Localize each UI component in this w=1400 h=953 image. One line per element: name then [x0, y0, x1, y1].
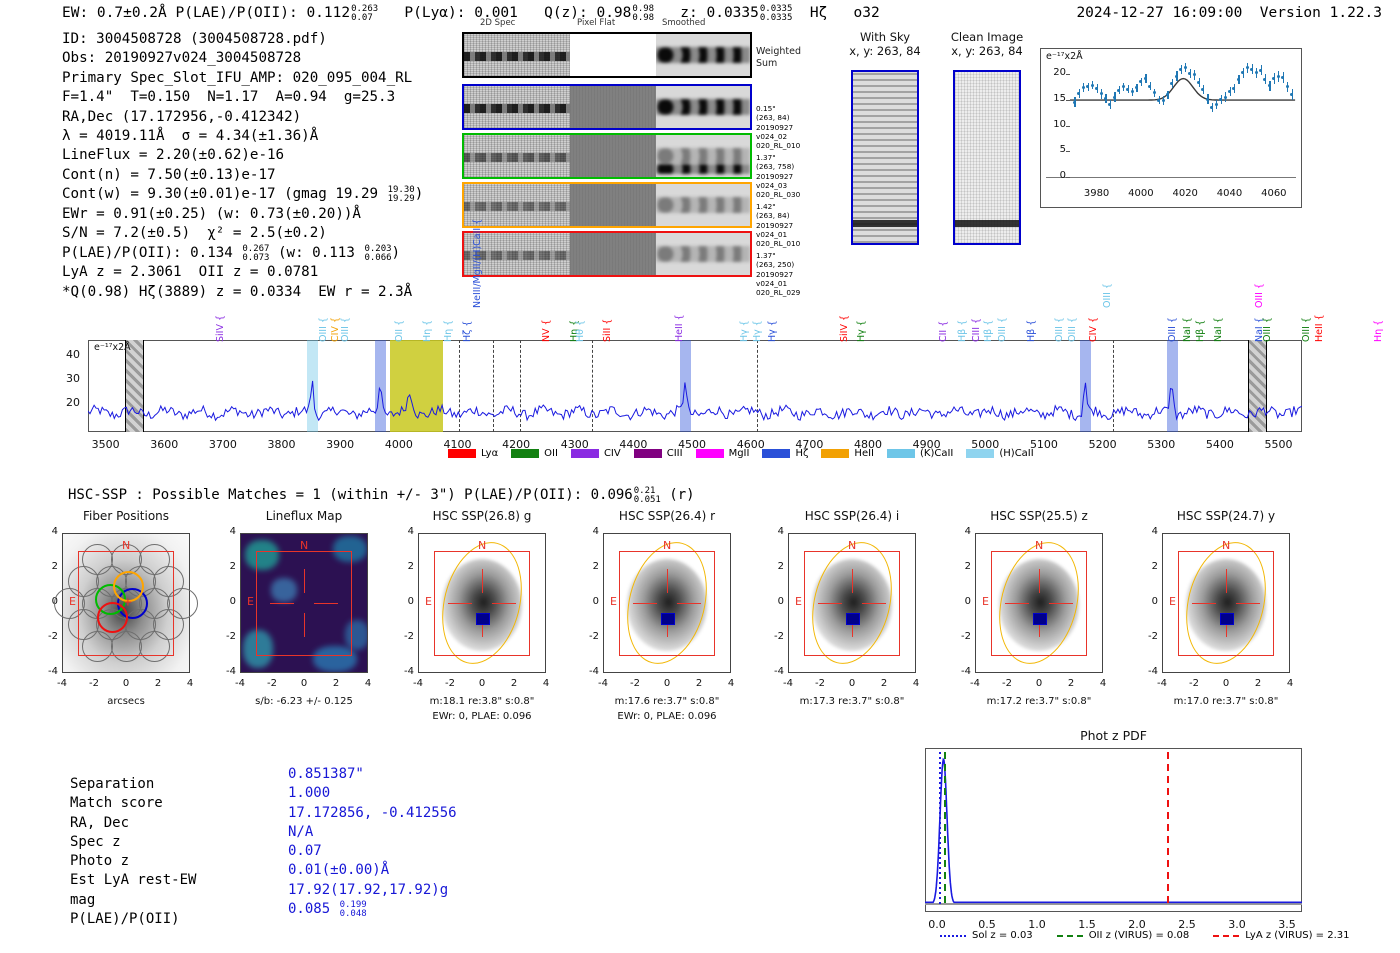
legend-item: CIII	[634, 448, 683, 459]
crosshair-right	[862, 603, 886, 604]
match-table-key: Photo z	[70, 852, 129, 871]
with-sky-cutout	[851, 70, 919, 245]
spectral-line-label: Hθ {	[575, 272, 586, 342]
seg-smoothed	[656, 135, 750, 177]
zoom-spectrum-point	[1224, 96, 1227, 99]
zoom-spectrum-ytick: 15	[1046, 93, 1066, 104]
zoom-spectrum-ytick: 5	[1046, 144, 1066, 155]
version-label: Version 1.22.3	[1260, 5, 1382, 21]
spectral-line-label: Hη {	[443, 272, 454, 342]
spectral-line-label: OIII {	[1254, 270, 1265, 308]
zoom-spectrum-point	[1157, 99, 1160, 102]
full-spectrum-ytick: 20	[52, 396, 80, 409]
info-plae-errors: 0.2670.073	[242, 245, 269, 263]
zoom-spectrum-point	[1184, 66, 1187, 69]
header-extra: o32	[854, 5, 880, 21]
hsc-panel-stats: s/b: -6.23 +/- 0.125	[210, 695, 398, 708]
hsc-panel-stats: m:17.2 re:3.7" s:0.8"	[945, 695, 1133, 708]
crosshair-left	[448, 603, 472, 604]
spectral-line-label: CIV {	[330, 272, 341, 342]
hsc-panel-xtick: 4	[1276, 678, 1304, 689]
compass-east-label: E	[247, 595, 254, 608]
legend-label: OII	[544, 448, 558, 459]
full-spectrum-unit-label: e⁻¹⁷x2Å	[94, 342, 131, 353]
full-spectrum-xtick: 3600	[138, 438, 190, 451]
zoom-spectrum-xtick: 3980	[1077, 188, 1117, 199]
hsc-panel-xtick: 0	[290, 678, 318, 689]
spectral-line-label: NaI {	[1213, 272, 1224, 342]
full-spectrum-xtick: 5300	[1135, 438, 1187, 451]
compass-east-label: E	[610, 595, 617, 608]
hsc-panel-xtick: 4	[354, 678, 382, 689]
info-cont-w: Cont(w) = 9.30(±0.01)e-17 (gmag 19.29 19…	[62, 185, 423, 205]
full-spectrum-trace	[88, 340, 1302, 432]
spectral-line-label: Hη {	[422, 272, 433, 342]
hsc-panel-xtick: -2	[621, 678, 649, 689]
spectral-line-label: OIII {	[340, 272, 351, 342]
hsc-panel-xtick: 2	[1244, 678, 1272, 689]
match-table-value: 0.01(±0.00)Å	[288, 861, 389, 880]
match-table-key: Est LyA rest-EW	[70, 871, 196, 890]
hsc-panel-title: Lineflux Map	[218, 509, 390, 523]
legend-swatch	[966, 449, 994, 458]
full-spectrum-xtick: 3500	[80, 438, 132, 451]
header-plae-value: 0.112	[306, 5, 350, 21]
info-obs: Obs: 20190927v024_3004508728	[62, 49, 423, 68]
hsc-panel-stats: m:17.3 re:3.7" s:0.8"	[758, 695, 946, 708]
zoom-spectrum-point	[1104, 97, 1107, 100]
crosshair-right	[677, 603, 701, 604]
match-table-key: P(LAE)/P(OII)	[70, 910, 180, 929]
match-table-value: 0.085 0.1990.048	[288, 900, 367, 919]
hsc-panel-xtick: 0	[838, 678, 866, 689]
hsc-panel-xtick: 2	[500, 678, 528, 689]
legend-label: CIII	[667, 448, 683, 459]
crosshair-left	[1005, 603, 1029, 604]
spec2d-row: 0.411.17327 0.15"(263, 84)20190927v024_0…	[462, 84, 812, 130]
match-table-key: Spec z	[70, 833, 121, 852]
spec2d-row: 0.171.24307 1.37"(263, 758)20190927v024_…	[462, 133, 812, 179]
legend-swatch	[511, 449, 539, 458]
info-ewr: EWr = 0.91(±0.25) (w: 0.73(±0.20))Å	[62, 205, 423, 224]
hsc-panel-ytick: 2	[1138, 561, 1158, 572]
info-wavelength-sigma: λ = 4019.11Å σ = 4.34(±1.36)Å	[62, 127, 423, 146]
zoom-spectrum-point	[1162, 99, 1165, 102]
legend-item: OII	[511, 448, 558, 459]
hsc-panel-ytick: 2	[579, 561, 599, 572]
compass-north-label: N	[300, 539, 308, 552]
zoom-spectrum-point	[1175, 75, 1178, 78]
hsc-panel-ytick: 2	[38, 561, 58, 572]
crosshair-top	[304, 569, 305, 593]
hsc-panel-xtick: -4	[1148, 678, 1176, 689]
legend-swatch	[887, 449, 915, 458]
hsc-panel-xtick: -4	[226, 678, 254, 689]
phot-z-legend-swatch	[1057, 935, 1083, 937]
full-spectrum-line-labels: SiIV {OIII {CIV {OIII {OII {Hη {Hη {Hζ {…	[88, 268, 1302, 342]
zoom-spectrum-point	[1073, 101, 1076, 104]
match-table-key: mag	[70, 891, 95, 910]
hsc-panel-xtick: 2	[144, 678, 172, 689]
legend-label: Hζ	[795, 448, 808, 459]
hsc-panel-ytick: -4	[216, 666, 236, 677]
hsc-panel-stats: m:17.0 re:3.7" s:0.8"	[1132, 695, 1320, 708]
col-title-2dspec: 2D Spec	[480, 18, 515, 28]
header-timestamp-version: 2024-12-27 16:09:00 Version 1.22.3	[1076, 5, 1382, 21]
spectral-line-label: CIV {	[1088, 272, 1099, 342]
hsc-panel-xtick: 4	[902, 678, 930, 689]
hsc-panel-ytick: -2	[951, 631, 971, 642]
compass-north-label: N	[663, 539, 671, 552]
spectral-line-label: OIII {	[997, 272, 1008, 342]
info-id: ID: 3004508728 (3004508728.pdf)	[62, 30, 423, 49]
full-spectrum-legend: LyαOIICIVCIIIMgIIHζHeII(K)CaII(H)CaII	[448, 448, 1034, 459]
match-table-plae-errors: 0.1990.048	[340, 901, 367, 919]
hsc-panel-xtick: 2	[322, 678, 350, 689]
hsc-banner-plae: 0.096	[591, 487, 633, 503]
info-plae-oii: P(LAE)/P(OII): 0.134 0.2670.073 (w: 0.11…	[62, 244, 423, 264]
hsc-panel-xtick: -2	[258, 678, 286, 689]
spectral-line-label: OIII {	[1054, 272, 1065, 342]
hsc-panel-xtick: 0	[1212, 678, 1240, 689]
crosshair-top	[1226, 569, 1227, 593]
col-title-smoothed: Smoothed	[662, 18, 705, 28]
zoom-spectrum-point	[1215, 103, 1218, 106]
legend-item: CIV	[571, 448, 621, 459]
hsc-banner-text: HSC-SSP : Possible Matches = 1 (within +…	[68, 487, 591, 503]
crosshair-left	[633, 603, 657, 604]
hsc-panel-ytick: 2	[764, 561, 784, 572]
match-table-value: 17.92(17.92,17.92)g	[288, 881, 448, 900]
zoom-spectrum-point	[1091, 84, 1094, 87]
header-summary-line: EW: 0.7±0.2Å P(LAE)/P(OII): 0.1120.2630.…	[62, 4, 880, 22]
spec2d-montage: 2D Spec Pixel Flat Smoothed WeightedSum …	[462, 32, 812, 280]
match-table-key: Separation	[70, 775, 154, 794]
hsc-panel-ytick: -2	[1138, 631, 1158, 642]
phot-z-legend-label: Sol z = 0.03	[972, 930, 1033, 941]
info-cont-n: Cont(n) = 7.50(±0.13)e-17	[62, 166, 423, 185]
hsc-panel-ytick: 0	[1138, 596, 1158, 607]
spectral-line-label: Hβ {	[957, 272, 968, 342]
spectral-line-label: NV {	[541, 272, 552, 342]
hsc-panel-xtick: 4	[532, 678, 560, 689]
compass-north-label: N	[478, 539, 486, 552]
hsc-panel-title: HSC SSP(25.5) z	[953, 509, 1125, 523]
spectral-line-label: HeII {	[1314, 272, 1325, 342]
zoom-spectrum-ytick-mark	[1066, 126, 1070, 127]
header-line-id: Hζ	[810, 5, 827, 21]
spectral-line-label: Hβ {	[983, 272, 994, 342]
phot-z-pdf-chart: Phot z PDF 0.00.51.01.52.02.53.03.5	[925, 748, 1302, 912]
spectral-line-label: HeII {	[674, 272, 685, 342]
spectral-line-label: OIII {	[318, 272, 329, 342]
phot-z-legend-swatch	[1213, 935, 1239, 937]
crosshair-left	[818, 603, 842, 604]
hsc-panel-ytick: 4	[216, 526, 236, 537]
hsc-banner-suffix: (r)	[661, 487, 695, 503]
hsc-panel-xtick: -4	[589, 678, 617, 689]
info-lineflux: LineFlux = 2.20(±0.62)e-16	[62, 146, 423, 165]
hsc-panel-ytick: 0	[951, 596, 971, 607]
spectral-line-label: OIII {	[1067, 272, 1078, 342]
hsc-panel-xtick: 2	[1057, 678, 1085, 689]
detection-info-block: ID: 3004508728 (3004508728.pdf) Obs: 201…	[62, 30, 423, 302]
spectral-line-label: SiIV {	[215, 272, 226, 342]
crosshair-right	[492, 603, 516, 604]
hsc-panel-ytick: 2	[951, 561, 971, 572]
match-table-key: Match score	[70, 794, 163, 813]
legend-swatch	[448, 449, 476, 458]
spectral-line-label: Hγ {	[856, 272, 867, 342]
hsc-panel-ytick: -4	[579, 666, 599, 677]
phot-z-legend-item: LyA z (VIRUS) = 2.31	[1213, 930, 1349, 941]
spectral-line-label: Hγ {	[767, 272, 778, 342]
hsc-panel-ytick: -4	[1138, 666, 1158, 677]
hsc-panel-xtick: -2	[806, 678, 834, 689]
full-spectrum-ytick: 40	[52, 348, 80, 361]
spectral-line-label: Hβ {	[1026, 272, 1037, 342]
zoom-spectrum-fit-curve	[1040, 48, 1302, 208]
match-table-value: 17.172856, -0.412556	[288, 804, 457, 823]
legend-swatch	[821, 449, 849, 458]
timestamp: 2024-12-27 16:09:00	[1076, 5, 1242, 21]
hsc-panel-title: HSC SSP(24.7) y	[1140, 509, 1312, 523]
legend-swatch	[762, 449, 790, 458]
hsc-panel-ytick: 4	[579, 526, 599, 537]
virus-detection-marker	[1033, 613, 1047, 625]
info-sn-chi2: S/N = 7.2(±0.5) χ² = 2.5(±0.2)	[62, 224, 423, 243]
phot-z-legend-swatch	[940, 935, 966, 937]
full-spectrum-ytick: 30	[52, 372, 80, 385]
spectral-line-label: OIII {	[1301, 272, 1312, 342]
hsc-panel-xtick: -4	[774, 678, 802, 689]
info-seeing: F=1.4" T=0.150 N=1.17 A=0.94 g=25.3	[62, 88, 423, 107]
spectral-line-label: SiIV {	[839, 272, 850, 342]
hsc-panel-xtick: -2	[80, 678, 108, 689]
seg-smoothed	[656, 184, 750, 226]
zoom-spectrum-point	[1126, 88, 1129, 91]
spectral-line-label: Hβ {	[1195, 272, 1206, 342]
seg-2dspec	[464, 86, 570, 128]
hsc-panel-ytick: -4	[394, 666, 414, 677]
zoom-spectrum-ytick: 10	[1046, 119, 1066, 130]
info-primary-spec: Primary Spec_Slot_IFU_AMP: 020_095_004_R…	[62, 69, 423, 88]
full-spectrum-xtick: 5500	[1253, 438, 1305, 451]
hsc-panel-xtick: 4	[717, 678, 745, 689]
crosshair-right	[314, 603, 338, 604]
match-table-value: 0.07	[288, 842, 322, 861]
seg-pixelflat	[570, 184, 656, 226]
zoom-spectrum-xtick: 4040	[1210, 188, 1250, 199]
legend-swatch	[634, 449, 662, 458]
legend-label: Lyα	[481, 448, 498, 459]
hsc-panel-title: HSC SSP(26.4) i	[766, 509, 938, 523]
seg-2dspec	[464, 135, 570, 177]
seg-pixelflat	[570, 34, 656, 76]
clean-image-cutout	[953, 70, 1021, 245]
zoom-spectrum-point	[1286, 85, 1289, 88]
spectral-line-label: OIII {	[1102, 270, 1113, 308]
compass-east-label: E	[425, 595, 432, 608]
compass-north-label: N	[1222, 539, 1230, 552]
legend-swatch	[696, 449, 724, 458]
compass-north-label: N	[1035, 539, 1043, 552]
full-spectrum-xtick: 3700	[197, 438, 249, 451]
legend-label: HeII	[854, 448, 874, 459]
hsc-panel-stats: arcsecs	[32, 695, 220, 708]
hsc-panel-xtick: 0	[653, 678, 681, 689]
crosshair-top	[852, 569, 853, 593]
legend-item: Lyα	[448, 448, 498, 459]
match-table-value: N/A	[288, 823, 313, 842]
zoom-spectrum-ytick-mark	[1066, 100, 1070, 101]
full-spectrum-xtick: 5200	[1077, 438, 1129, 451]
zoom-spectrum-point	[1259, 69, 1262, 72]
hsc-panel-xtick: 0	[112, 678, 140, 689]
zoom-spectrum-ytick-mark	[1066, 177, 1070, 178]
legend-swatch	[571, 449, 599, 458]
target-marker: +	[124, 595, 132, 610]
full-spectrum-xtick: 3800	[256, 438, 308, 451]
hsc-panel-xtick: -4	[961, 678, 989, 689]
hsc-panel-ytick: 4	[951, 526, 971, 537]
compass-north-label: N	[122, 539, 130, 552]
spectral-line-label: OIII {	[1167, 272, 1178, 342]
header-z-errors: 0.03350.0335	[760, 5, 793, 23]
full-spectrum-chart: e⁻¹⁷x2Å	[88, 340, 1302, 432]
legend-item: Hζ	[762, 448, 808, 459]
hsc-panel-ewr-plae: EWr: 0, PLAE: 0.096	[388, 710, 576, 723]
compass-east-label: E	[69, 595, 76, 608]
hsc-panel-xtick: -4	[404, 678, 432, 689]
virus-detection-marker	[476, 613, 490, 625]
zoom-spectrum-point	[1122, 85, 1125, 88]
legend-label: (H)CaII	[999, 448, 1033, 459]
header-ew-plae-prefix: EW: 0.7±0.2Å P(LAE)/P(OII):	[62, 5, 306, 21]
legend-item: HeII	[821, 448, 874, 459]
hsc-panel-xtick: 0	[1025, 678, 1053, 689]
hsc-panel-ewr-plae: EWr: 0, PLAE: 0.096	[573, 710, 761, 723]
spectral-line-label: Hγ {	[752, 272, 763, 342]
spectral-line-label: SiII {	[602, 272, 613, 342]
seg-pixelflat	[570, 135, 656, 177]
hsc-panel-title: Fiber Positions	[40, 509, 212, 523]
virus-detection-marker	[661, 613, 675, 625]
zoom-spectrum-point	[1113, 96, 1116, 99]
hsc-panel-title: HSC SSP(26.8) g	[396, 509, 568, 523]
zoom-spectrum-ytick-mark	[1066, 151, 1070, 152]
seg-smoothed	[656, 34, 750, 76]
zoom-spectrum-point	[1237, 78, 1240, 81]
zoom-spectrum-ytick-mark	[1066, 74, 1070, 75]
zoom-spectrum-point	[1290, 93, 1293, 96]
clean-image-title: Clean Imagex, y: 263, 84	[922, 30, 1052, 58]
seg-2dspec	[464, 34, 570, 76]
info-radec: RA,Dec (17.172956,-0.412342)	[62, 108, 423, 127]
legend-label: MgII	[729, 448, 750, 459]
hsc-panel-ytick: -2	[216, 631, 236, 642]
seg-smoothed	[656, 86, 750, 128]
phot-z-legend-label: LyA z (VIRUS) = 2.31	[1245, 930, 1349, 941]
spec2d-row-weighted-sum: WeightedSum	[462, 32, 812, 78]
hsc-panel-ytick: 4	[394, 526, 414, 537]
phot-z-legend-item: OII z (VIRUS) = 0.08	[1057, 930, 1190, 941]
spectral-line-label: NaI {	[1182, 272, 1193, 342]
legend-item: MgII	[696, 448, 750, 459]
compass-north-label: N	[848, 539, 856, 552]
crosshair-top	[1039, 569, 1040, 593]
compass-east-label: E	[795, 595, 802, 608]
hsc-panel-xtick: 2	[870, 678, 898, 689]
crosshair-left	[270, 603, 294, 604]
zoom-spectrum-point	[1095, 87, 1098, 90]
hsc-panel-xtick: 4	[176, 678, 204, 689]
hsc-panel-ytick: 2	[216, 561, 236, 572]
spectral-line-label: CIII {	[971, 272, 982, 342]
hsc-panel-ytick: 4	[1138, 526, 1158, 537]
spectral-line-label: CII {	[938, 272, 949, 342]
hsc-panel-ytick: -2	[394, 631, 414, 642]
legend-label: (K)CaII	[920, 448, 953, 459]
hsc-panel-ytick: -4	[764, 666, 784, 677]
full-spectrum-xtick: 3900	[314, 438, 366, 451]
zoom-spectrum-chart: e⁻¹⁷x2Å 05101520 39804000402040404060	[1040, 48, 1302, 208]
zoom-spectrum-xtick: 4000	[1121, 188, 1161, 199]
phot-z-pdf-title: Phot z PDF	[925, 728, 1302, 743]
hsc-panel-ytick: 0	[216, 596, 236, 607]
virus-detection-marker	[846, 613, 860, 625]
phot-z-pdf-plot	[925, 748, 1302, 912]
full-spectrum-xtick: 4000	[373, 438, 425, 451]
hsc-panel-xtick: 2	[685, 678, 713, 689]
zoom-spectrum-ytick: 0	[1046, 170, 1066, 181]
spectral-line-label: Hγ {	[739, 272, 750, 342]
hsc-panel-ytick: 0	[579, 596, 599, 607]
hsc-panel-ytick: -2	[764, 631, 784, 642]
match-table-key: RA, Dec	[70, 814, 129, 833]
hsc-banner-errors: 0.210.051	[634, 487, 661, 505]
crosshair-right	[1049, 603, 1073, 604]
weighted-sum-label: WeightedSum	[756, 46, 801, 69]
hsc-panel-ytick: 4	[764, 526, 784, 537]
phot-z-legend-item: Sol z = 0.03	[940, 930, 1033, 941]
hsc-panel-ytick: -4	[38, 666, 58, 677]
legend-item: (K)CaII	[887, 448, 953, 459]
info-gmag-errors: 19.3019.29	[388, 186, 415, 204]
match-table-value: 1.000	[288, 784, 330, 803]
col-title-pixelflat: Pixel Flat	[577, 18, 615, 28]
hsc-panel-xtick: -2	[1180, 678, 1208, 689]
spec2d-row: 0.150.55327 1.42"(263, 84)20190927v024_0…	[462, 182, 812, 228]
crosshair-right	[1236, 603, 1260, 604]
hsc-banner: HSC-SSP : Possible Matches = 1 (within +…	[68, 486, 695, 504]
header-plae-errors: 0.2630.07	[351, 5, 378, 23]
phot-z-legend-label: OII z (VIRUS) = 0.08	[1089, 930, 1190, 941]
compass-east-label: E	[1169, 595, 1176, 608]
hsc-panel-xtick: 0	[468, 678, 496, 689]
legend-item: (H)CaII	[966, 448, 1033, 459]
zoom-spectrum-point	[1144, 77, 1147, 80]
hsc-panel-xtick: 4	[1089, 678, 1117, 689]
crosshair-top	[667, 569, 668, 593]
hsc-panel-ytick: -4	[951, 666, 971, 677]
hsc-panel-stats: m:17.6 re:3.7" s:0.8"	[573, 695, 761, 708]
zoom-spectrum-point	[1277, 75, 1280, 78]
info-plae-w-errors: 0.2030.066	[364, 245, 391, 263]
crosshair-left	[1192, 603, 1216, 604]
spectral-line-label: OII {	[394, 272, 405, 342]
hsc-panel-title: HSC SSP(26.4) r	[581, 509, 753, 523]
